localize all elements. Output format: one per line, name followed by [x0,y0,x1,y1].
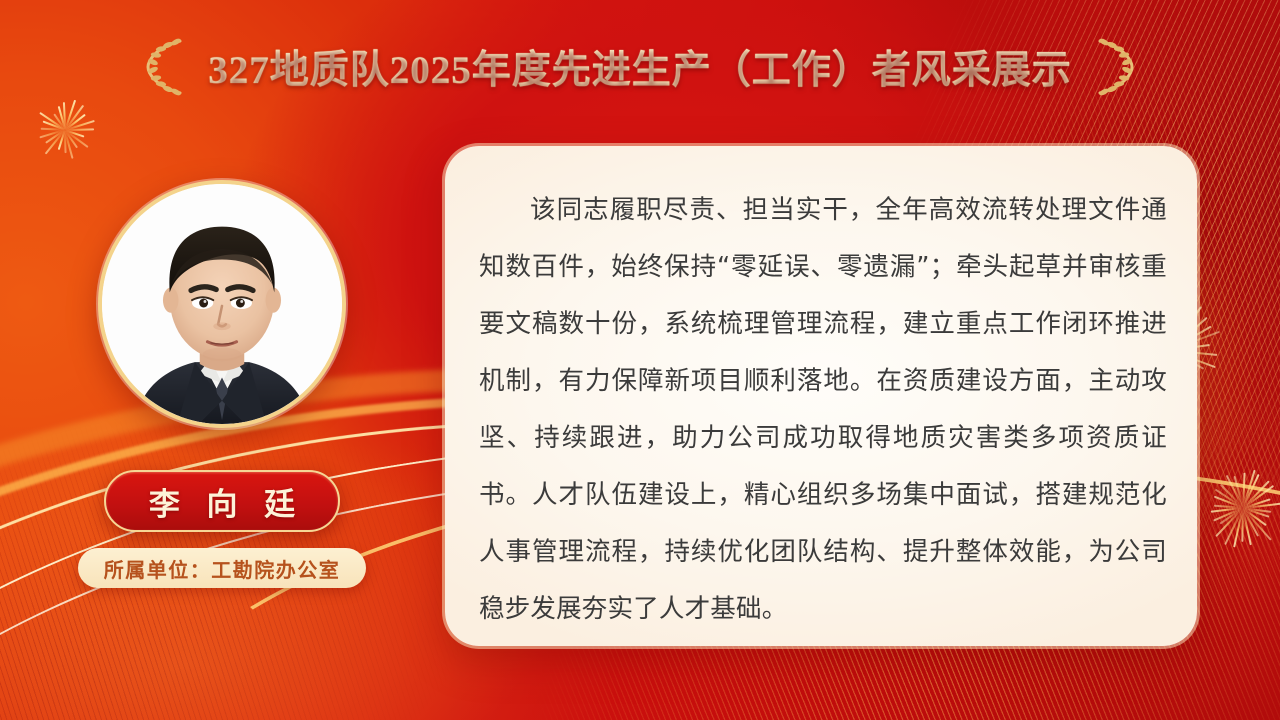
portrait-photo [102,184,342,424]
laurel-wreath-left-icon [140,36,192,98]
page-title: 327地质队2025年度先进生产（工作）者风采展示 [208,39,1072,95]
firework-burst-middle-right-icon [1195,460,1280,556]
firework-burst-small-left-icon [30,95,100,165]
unit-badge: 所属单位：工勘院办公室 [78,548,367,588]
avatar [98,180,346,428]
poster-root: 327地质队2025年度先进生产（工作）者风采展示 [0,0,1280,720]
achievement-card: 该同志履职尽责、担当实干，全年高效流转处理文件通知数百件，始终保持“零延误、零遗… [445,146,1197,646]
laurel-wreath-right-icon [1088,36,1140,98]
name-badge: 李 向 廷 [104,470,340,532]
profile-column: 李 向 廷 所属单位：工勘院办公室 [52,180,392,588]
achievement-text: 该同志履职尽责、担当实干，全年高效流转处理文件通知数百件，始终保持“零延误、零遗… [479,182,1167,638]
profile-name: 李 向 廷 [140,479,304,524]
profile-unit: 所属单位：工勘院办公室 [104,554,341,583]
title-bar: 327地质队2025年度先进生产（工作）者风采展示 [0,36,1280,98]
